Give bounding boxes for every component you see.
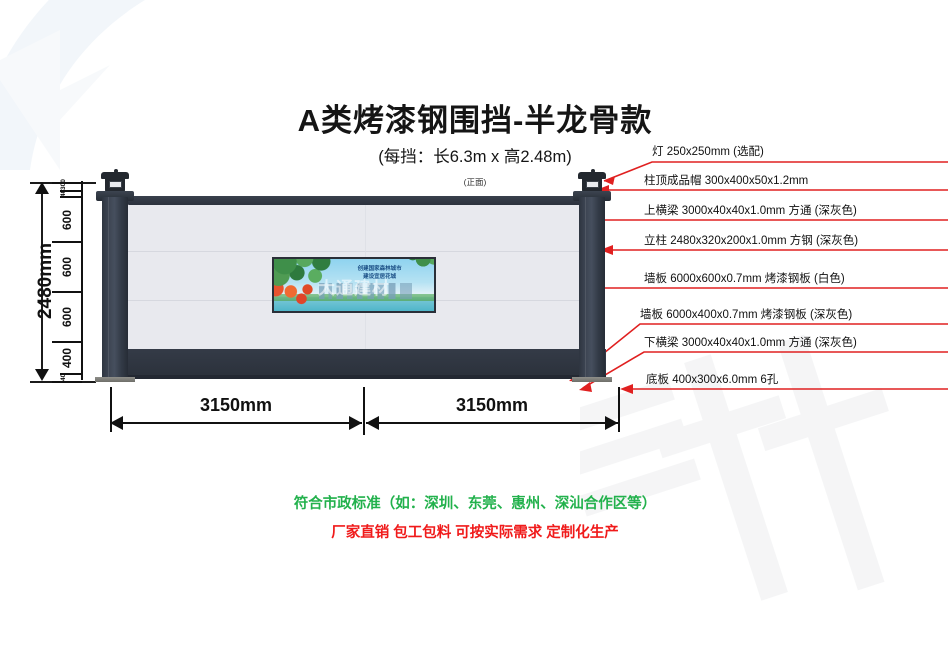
annotation-post-cap[interactable]: 柱顶成品帽 300x400x50x1.2mm — [644, 172, 808, 188]
post-left — [102, 183, 128, 381]
width-left-label: 3150mm — [110, 395, 362, 416]
dim-arrow-left — [366, 416, 379, 430]
height-segment-600-a: 600 — [60, 199, 76, 241]
diagram-canvas: A类烤漆钢围挡-半龙骨款 (每挡：长6.3m x 高2.48m) (正面) 24… — [0, 0, 950, 603]
annotation-base-plate[interactable]: 底板 400x300x6.0mm 6孔 — [646, 371, 778, 387]
width-right-label: 3150mm — [366, 395, 618, 416]
tick-vertical-line — [81, 181, 83, 380]
bottom-cross-beam — [128, 375, 606, 379]
post-right — [579, 183, 605, 381]
dim-arrow-up — [35, 182, 49, 194]
dim-line — [366, 422, 618, 424]
height-segment-300: 300 — [60, 181, 76, 190]
height-segment-40-top: 40 — [60, 190, 76, 197]
annotation-lamp[interactable]: 灯 250x250mm (选配) — [652, 143, 764, 159]
note-standard: 符合市政标准（如：深圳、东莞、惠州、深汕合作区等） — [0, 492, 950, 513]
dim-arrow-down — [35, 369, 49, 381]
post-shaft — [579, 197, 605, 381]
annotation-top-beam[interactable]: 上横梁 3000x40x40x1.0mm 方通 (深灰色) — [644, 202, 857, 218]
lamp-glass-icon — [586, 181, 599, 188]
billboard-panel: 创建国家森林城市 建设宜居花城 大通建材 — [272, 257, 436, 313]
dim-line — [110, 422, 362, 424]
annotation-panel-white[interactable]: 墙板 6000x600x0.7mm 烤漆钢板 (白色) — [644, 270, 845, 286]
height-segment-40-bottom: 40 — [60, 373, 76, 381]
annotation-bottom-beam[interactable]: 下横梁 3000x40x40x1.0mm 方通 (深灰色) — [644, 334, 857, 350]
billboard-watermark: 大通建材 — [277, 274, 431, 299]
dim-arrow-left — [110, 416, 123, 430]
tick-line — [52, 381, 82, 383]
annotation-panel-gray[interactable]: 墙板 6000x400x0.7mm 烤漆钢板 (深灰色) — [640, 306, 852, 322]
lamp-icon — [105, 177, 125, 192]
post-shaft — [102, 197, 128, 381]
billboard-headline-line1: 创建国家森林城市 — [332, 265, 428, 273]
ext-line-right — [618, 387, 620, 432]
height-segment-400: 400 — [60, 343, 76, 373]
horizontal-dimensions: 3150mm 3150mm — [110, 395, 620, 440]
dim-arrow-right — [349, 416, 362, 430]
vertical-dimension: 2480mm 300 40 600 600 600 400 40 — [0, 163, 96, 398]
ext-line-middle — [363, 387, 365, 435]
annotation-post[interactable]: 立柱 2480x320x200x1.0mm 方钢 (深灰色) — [644, 232, 858, 248]
base-plate-left — [95, 377, 135, 382]
dimension-right-span: 3150mm — [366, 395, 618, 440]
panel-seam — [128, 251, 604, 252]
top-cross-beam — [128, 196, 604, 205]
height-segment-600-b: 600 — [60, 243, 76, 291]
lamp-glass-icon — [109, 181, 122, 188]
lamp-icon — [582, 177, 602, 192]
page-title: A类烤漆钢围挡-半龙骨款 — [0, 95, 950, 140]
dim-arrow-right — [605, 416, 618, 430]
note-sales: 厂家直销 包工包料 可按实际需求 定制化生产 — [0, 521, 950, 542]
base-plate-right — [572, 377, 612, 382]
wall-panel-gray — [128, 349, 606, 377]
height-segment-600-c: 600 — [60, 293, 76, 341]
dimension-left-span: 3150mm — [110, 395, 362, 440]
